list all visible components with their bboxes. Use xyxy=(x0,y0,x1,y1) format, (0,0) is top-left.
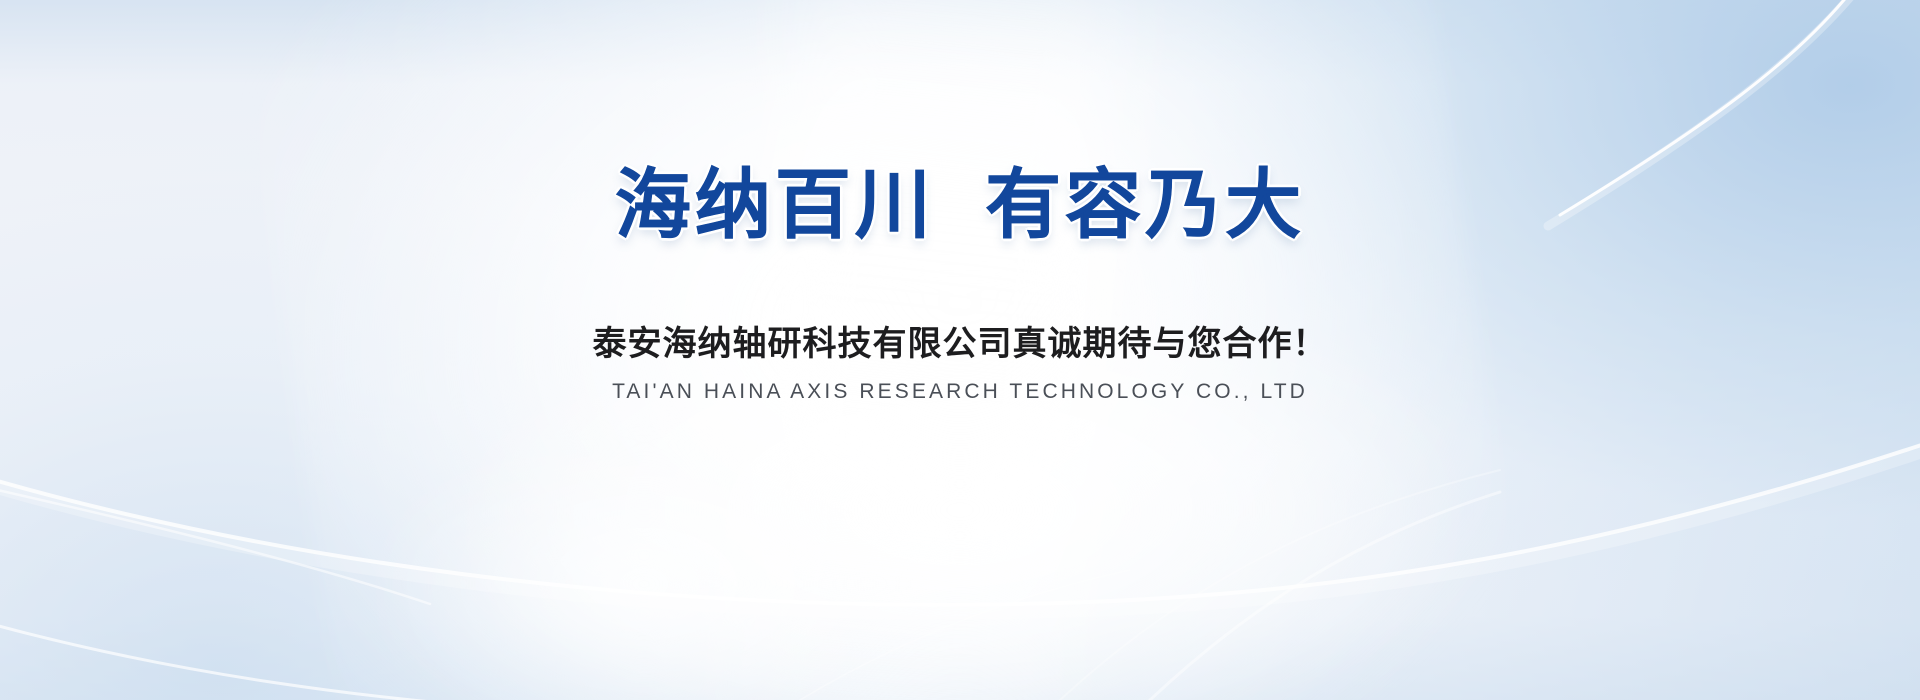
banner-content: 海纳百川 有容乃大 泰安海纳轴研科技有限公司真诚期待与您合作！ TAI'AN H… xyxy=(0,0,1920,700)
subtitle-english: TAI'AN HAINA AXIS RESEARCH TECHNOLOGY CO… xyxy=(612,380,1308,403)
subtitle-chinese: 泰安海纳轴研科技有限公司真诚期待与您合作！ xyxy=(593,326,1328,363)
page-title: 海纳百川 有容乃大 xyxy=(615,168,1305,244)
hero-banner: 海纳百川 有容乃大 泰安海纳轴研科技有限公司真诚期待与您合作！ TAI'AN H… xyxy=(0,0,1920,700)
